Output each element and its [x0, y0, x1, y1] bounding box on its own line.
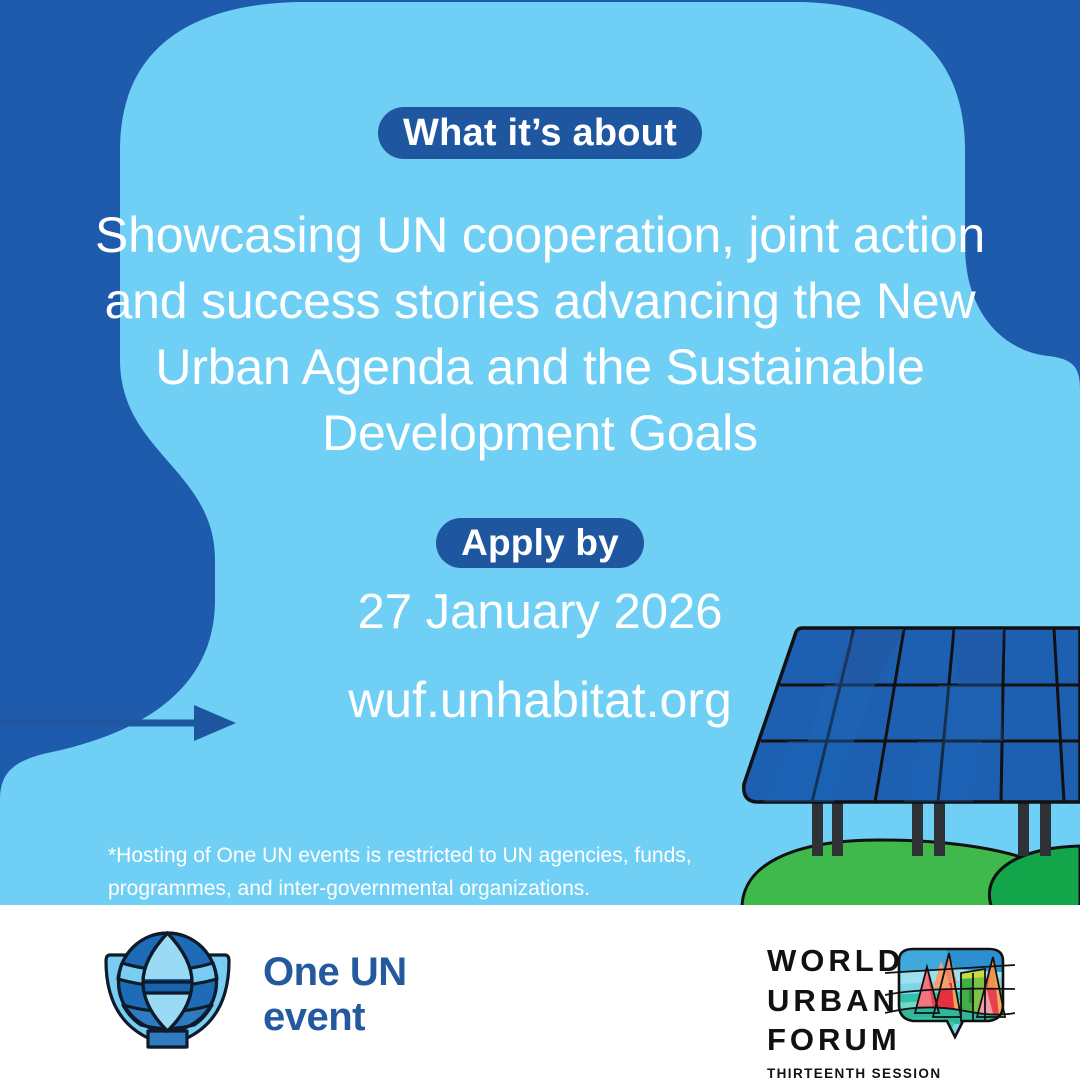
poster-content: What it’s about Showcasing UN cooperatio… [0, 0, 1080, 905]
wuf-session-label: THIRTEENTH SESSION [767, 1065, 941, 1080]
page-title: Showcasing UN cooperation, joint action … [90, 202, 990, 466]
wuf-stained-glass-icon [885, 943, 1015, 1043]
footer-bar: One UN event WORLD URBAN FORUM THIRTEENT… [0, 905, 1080, 1080]
apply-by-badge: Apply by [436, 518, 644, 568]
what-its-about-badge: What it’s about [378, 107, 702, 159]
one-un-event-wordmark: One UN event [263, 950, 407, 1040]
eligibility-footnote: *Hosting of One UN events is restricted … [108, 840, 768, 905]
un-globe-icon [100, 919, 235, 1054]
deadline-date: 27 January 2026 [140, 588, 940, 637]
one-un-line1: One UN [263, 950, 407, 995]
poster-canvas: What it’s about Showcasing UN cooperatio… [0, 0, 1080, 1080]
website-url[interactable]: wuf.unhabitat.org [140, 675, 940, 725]
one-un-line2: event [263, 995, 407, 1040]
